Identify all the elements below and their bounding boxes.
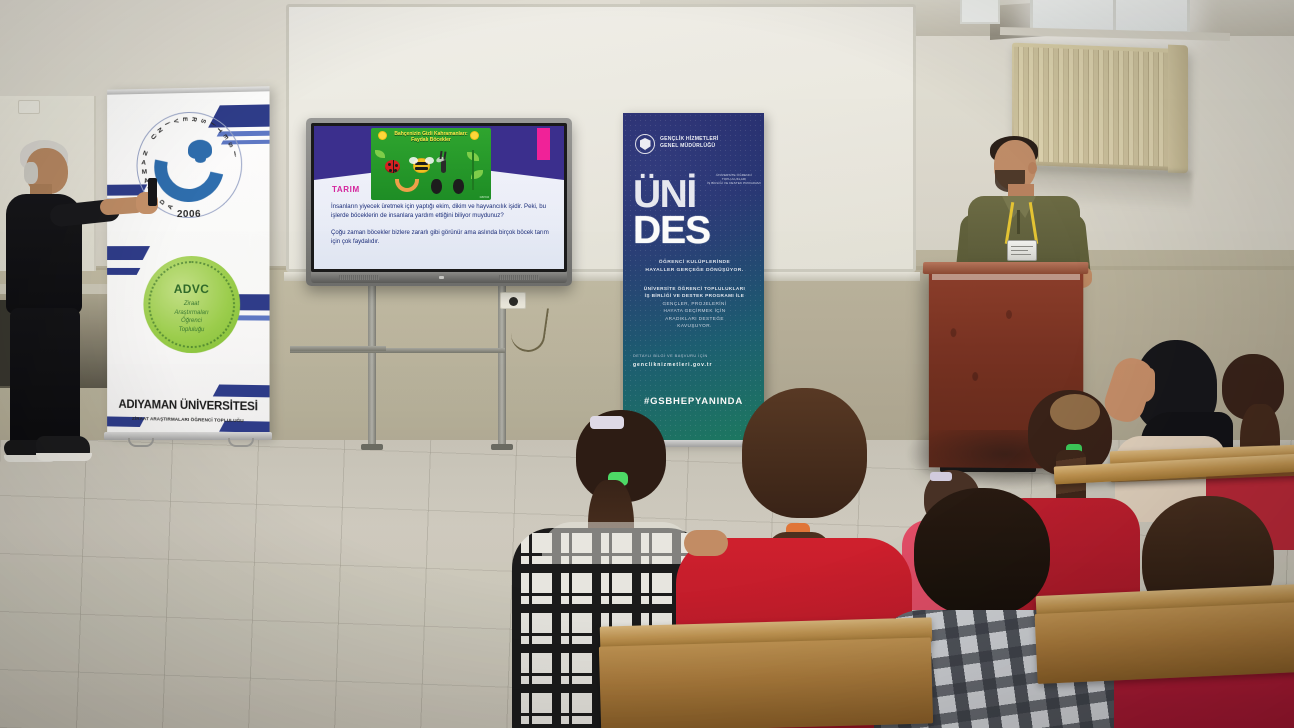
badge-line	[1011, 250, 1028, 251]
worm-icon	[395, 179, 419, 192]
body-line-3: GENÇLER, PROJELERİNİ	[633, 300, 756, 307]
hair-light-highlight	[1050, 394, 1100, 430]
banner-body-text: ÜNİVERSİTE ÖĞRENCİ TOPLULUKLARI İŞ BİRLİ…	[633, 285, 756, 329]
body-line-4: HAYATA GEÇİRMEK İÇİN	[633, 307, 756, 314]
plant-stem	[472, 150, 474, 190]
bug-illustrations	[371, 146, 491, 200]
ladybug-icon	[385, 160, 400, 173]
body-line-2: İŞ BİRLİĞİ VE DESTEK PROGRAMI İLE	[633, 292, 756, 299]
window-mullion	[1113, 0, 1116, 31]
logo-arc-char: A	[141, 159, 147, 167]
unides-wordmark: ÜNİDES ÜNİVERSİTE ÖĞRENCİ TOPLULUKLARI İ…	[633, 177, 758, 249]
ministry-crest	[640, 138, 651, 150]
board-speaker-right	[499, 275, 539, 280]
logo-arc-char: S	[199, 118, 207, 125]
unides-tagline-line1: ÜNİVERSİTE ÖĞRENCİ TOPLULUKLARI	[705, 173, 763, 181]
beetle-icon	[431, 179, 442, 194]
radiator-end-cap	[1168, 45, 1188, 174]
ministry-name: GENÇLİK HİZMETLERİ GENEL MÜDÜRLÜĞÜ	[660, 136, 719, 150]
interactive-smart-board[interactable]: Bahçenizin Gizli Kahramanları: Faydalı B…	[306, 118, 572, 286]
board-speaker-left	[339, 275, 379, 280]
logo-arc-char: M	[142, 168, 148, 175]
logo-arc-char: N	[155, 127, 164, 135]
logo-arc-char: T	[215, 126, 223, 134]
presenter-sideburn	[24, 162, 38, 184]
speaker-shirt-placket	[1017, 210, 1020, 234]
logo-arc-char: N	[142, 150, 149, 158]
logo-arc-char: S	[227, 140, 234, 148]
slide-illustration: Bahçenizin Gizli Kahramanları: Faydalı B…	[371, 128, 491, 200]
badge-line	[1011, 246, 1033, 247]
classroom-photo-scene: Bahçenizin Gizli Kahramanları: Faydalı B…	[0, 0, 1294, 728]
logo-arc-char: E	[181, 117, 188, 122]
desk-front-center-body	[599, 637, 933, 728]
desk-front-right-body	[1035, 602, 1294, 684]
unides-tagline-line2: İŞ BİRLİĞİ VE DESTEK PROGRAMI	[705, 181, 763, 185]
speaker-ear	[1028, 162, 1037, 174]
body-line-6: KAVUŞUYOR.	[633, 322, 756, 329]
body-line-1: ÜNİVERSİTE ÖĞRENCİ TOPLULUKLARI	[633, 285, 756, 292]
headline-line-1: ÖĞRENCİ KULÜPLERİNDE	[633, 259, 756, 267]
banner-stripe	[107, 268, 140, 275]
illustration-credit: canva	[480, 195, 489, 199]
logo-arc-char: V	[172, 118, 180, 124]
presentation-slide: Bahçenizin Gizli Kahramanları: Faydalı B…	[314, 126, 564, 269]
club-emblem-title: ADVC	[143, 282, 240, 296]
hair-barrette	[590, 416, 624, 429]
leaf-shape	[375, 150, 385, 158]
unides-wordmark-des: DES	[633, 213, 710, 249]
ministry-line-2: GENEL MÜDÜRLÜĞÜ	[660, 143, 719, 150]
body-line-5: ARADIKLARI DESTEĞE	[633, 315, 756, 322]
flower-icon	[471, 132, 478, 139]
ministry-logo-icon	[635, 134, 655, 154]
logo-arc-char: İ	[163, 122, 170, 127]
slide-section-label: TARIM	[332, 185, 360, 194]
ministry-line-1: GENÇLİK HİZMETLERİ	[660, 136, 719, 143]
logo-arc-char: R	[190, 116, 198, 122]
board-control-bar[interactable]	[311, 272, 567, 283]
slide-pink-accent	[537, 128, 550, 160]
logo-arc-char: Ü	[149, 133, 157, 142]
jacket-hood	[542, 522, 692, 564]
slide-body-text: İnsanların yiyecek üretmek için yaptığı …	[331, 202, 552, 247]
board-power-led	[439, 276, 444, 279]
slide-paragraph-1: İnsanların yiyecek üretmek için yaptığı …	[331, 202, 552, 221]
shoulder-hand	[684, 530, 728, 556]
headline-line-2: HAYALLER GERÇEĞE DÖNÜŞÜYOR.	[633, 267, 756, 275]
fly-icon	[441, 159, 446, 173]
podium-paper-ledge	[932, 274, 1080, 280]
logo-arc-char: E	[221, 132, 229, 140]
wall-socket-left[interactable]	[18, 100, 40, 114]
head	[914, 488, 1050, 616]
banner-headline: ÖĞRENCİ KULÜPLERİNDE HAYALLER GERÇEĞE DÖ…	[633, 259, 756, 274]
audience-group	[0, 330, 1294, 728]
beetle-icon	[453, 179, 464, 194]
unides-wordmark-tagline: ÜNİVERSİTE ÖĞRENCİ TOPLULUKLARI İŞ BİRLİ…	[705, 173, 763, 185]
window-left-pane	[960, 0, 1000, 24]
logo-arc-char: İ	[208, 121, 215, 127]
head	[742, 388, 867, 518]
id-badge	[1007, 240, 1037, 261]
banner-stripe	[107, 246, 150, 260]
bee-icon	[413, 158, 430, 173]
flower-icon	[379, 132, 386, 139]
badge-line	[1011, 254, 1031, 255]
hair-clip	[930, 472, 952, 481]
board-bezel: Bahçenizin Gizli Kahramanları: Faydalı B…	[311, 123, 567, 272]
phone-in-hand[interactable]	[148, 178, 157, 206]
unides-wordmark-uni: ÜNİ	[633, 177, 696, 213]
logo-arc-char: D	[159, 198, 168, 206]
logo-arc-char: İ	[233, 149, 236, 156]
slide-paragraph-2: Çoğu zaman böcekler bizlere zararlı gibi…	[331, 228, 552, 247]
podium-top-surface	[923, 262, 1089, 274]
podium-wood-knot	[1006, 310, 1012, 319]
